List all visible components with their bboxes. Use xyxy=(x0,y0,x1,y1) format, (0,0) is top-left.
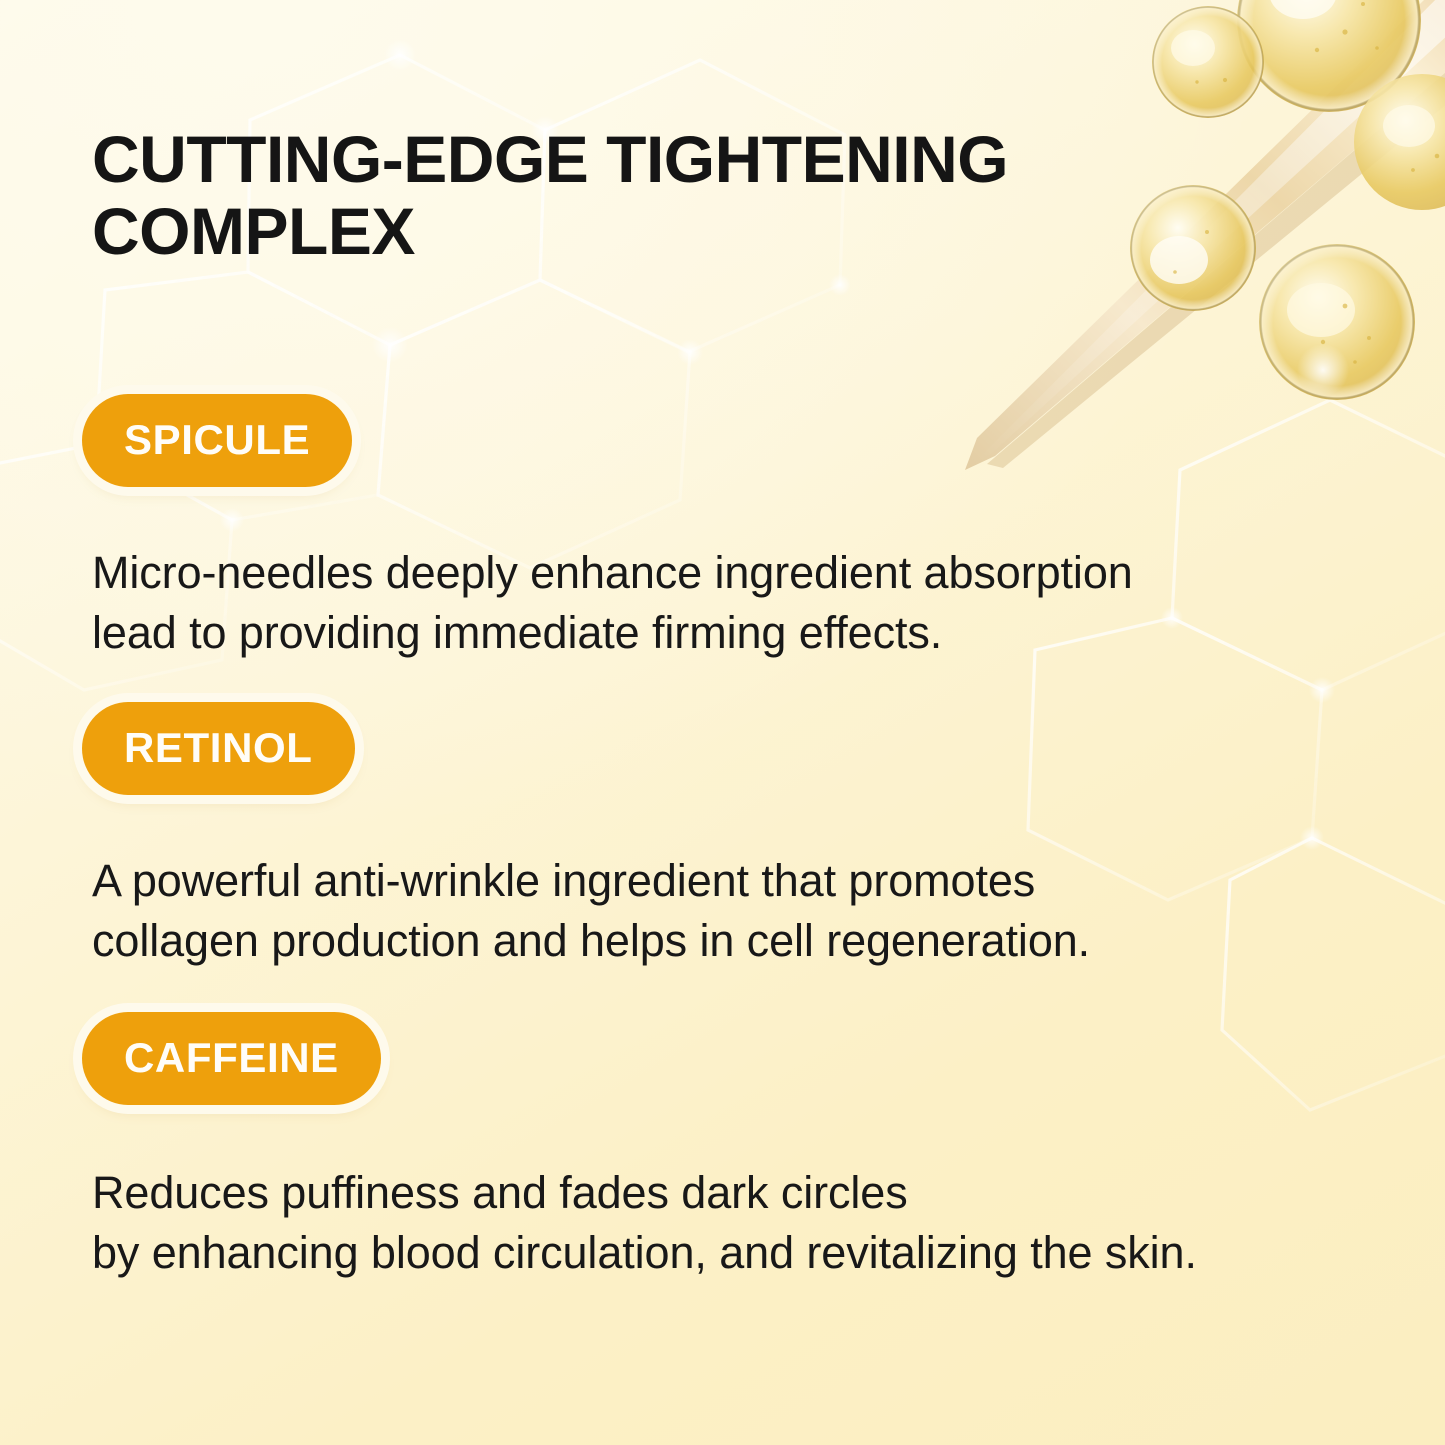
section-body-retinol: A powerful anti-wrinkle ingredient that … xyxy=(82,851,1412,971)
section-body-spicule: Micro-needles deeply enhance ingredient … xyxy=(82,543,1412,663)
badge-caffeine[interactable]: CAFFEINE xyxy=(82,1012,381,1105)
ingredient-section-retinol: RETINOL A powerful anti-wrinkle ingredie… xyxy=(82,702,1412,971)
section-body-caffeine: Reduces puffiness and fades dark circles… xyxy=(82,1163,1412,1283)
badge-retinol[interactable]: RETINOL xyxy=(82,702,355,795)
infographic-canvas: CUTTING-EDGE TIGHTENING COMPLEX SPICULE … xyxy=(0,0,1445,1445)
ingredient-section-spicule: SPICULE Micro-needles deeply enhance ing… xyxy=(82,394,1412,663)
ingredient-section-caffeine: CAFFEINE Reduces puffiness and fades dar… xyxy=(82,1012,1412,1283)
badge-spicule[interactable]: SPICULE xyxy=(82,394,352,487)
page-title: CUTTING-EDGE TIGHTENING COMPLEX xyxy=(92,124,1132,268)
